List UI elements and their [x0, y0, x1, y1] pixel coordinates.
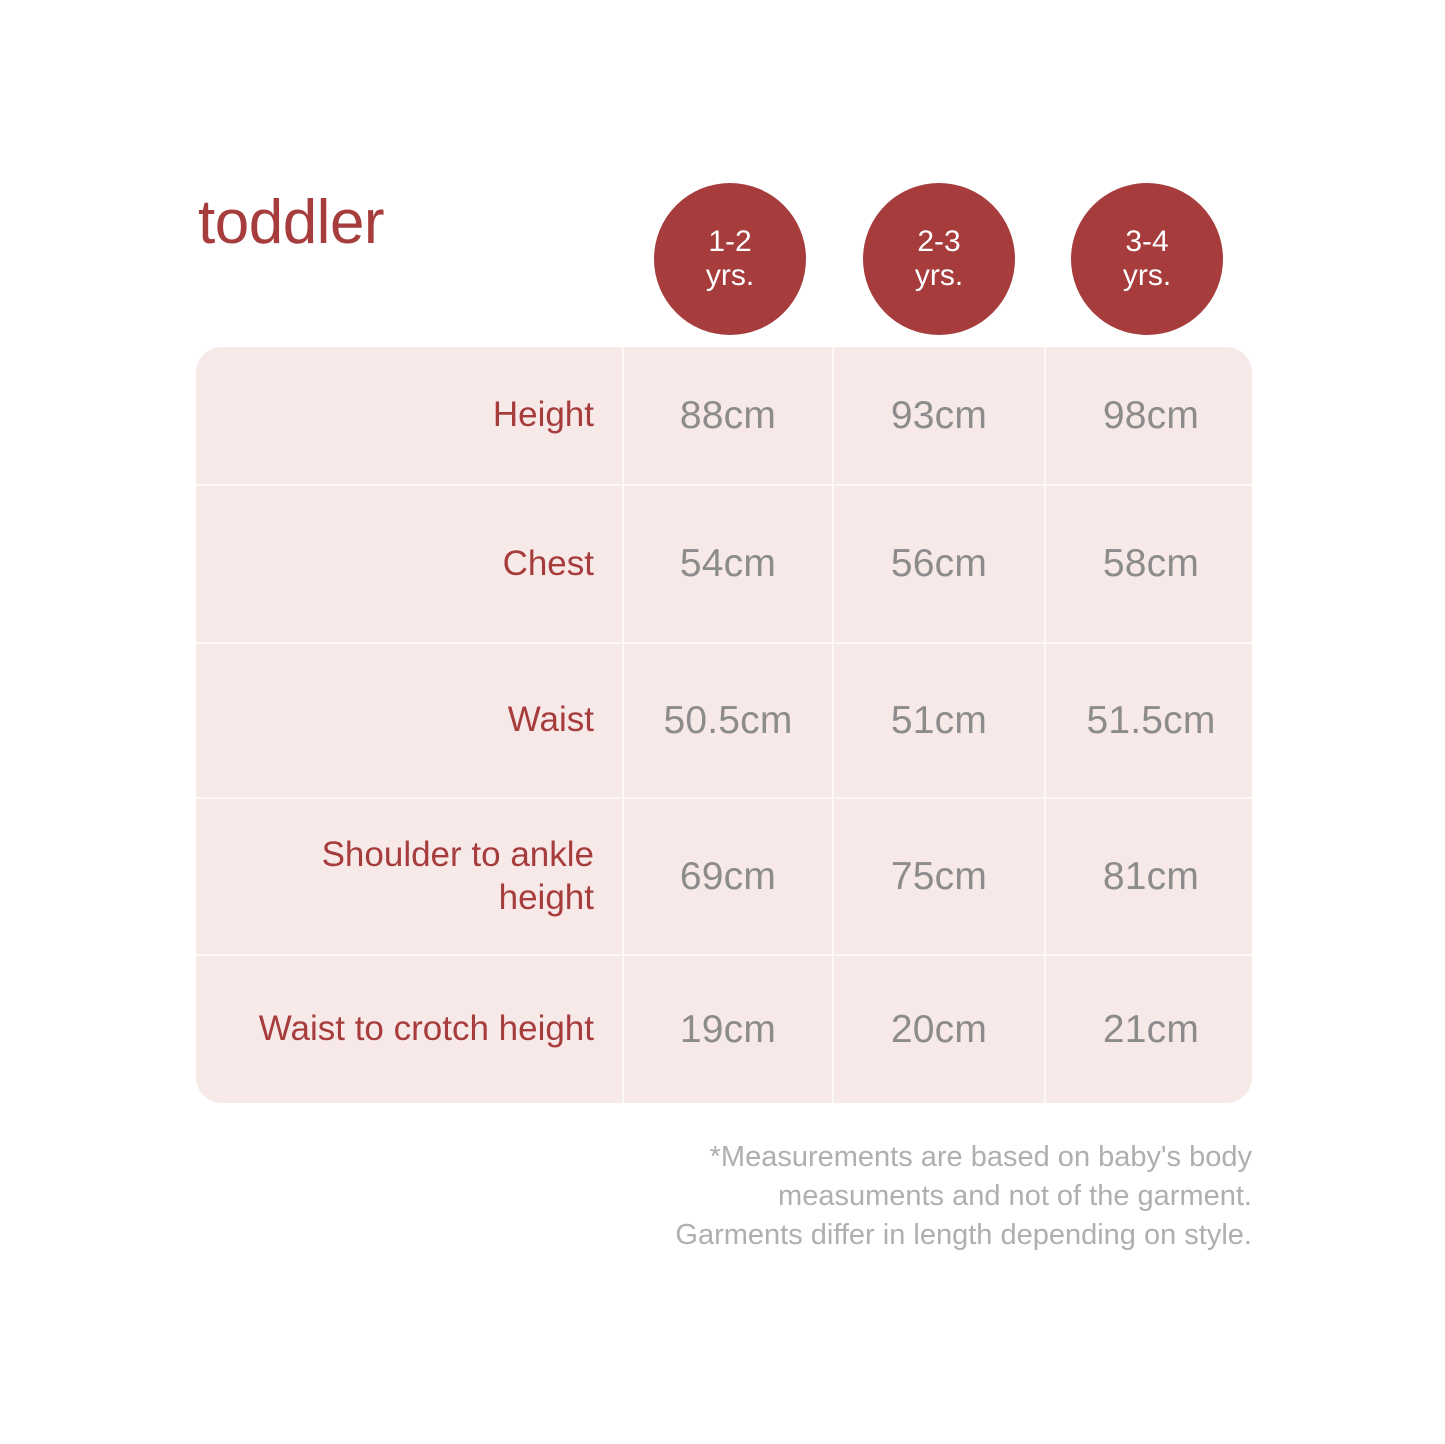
page-title: toddler	[198, 192, 384, 254]
cell-chest-2-3: 56cm	[832, 486, 1044, 642]
table-row: Height 88cm 93cm 98cm	[196, 347, 1252, 484]
cell-height-3-4: 98cm	[1044, 347, 1252, 484]
size-badge-unit: yrs.	[706, 259, 754, 293]
cell-shoulder-to-ankle-2-3: 75cm	[832, 799, 1044, 954]
table-row: Waist to crotch height 19cm 20cm 21cm	[196, 954, 1252, 1103]
row-label-chest: Chest	[196, 486, 622, 642]
measurements-footnote: *Measurements are based on baby's body m…	[552, 1138, 1252, 1255]
cell-waist-2-3: 51cm	[832, 644, 1044, 797]
cell-waist-to-crotch-1-2: 19cm	[622, 956, 832, 1103]
cell-waist-to-crotch-2-3: 20cm	[832, 956, 1044, 1103]
size-badge-range: 1-2	[708, 225, 751, 259]
footnote-line: Garments differ in length depending on s…	[552, 1216, 1252, 1255]
size-badge-unit: yrs.	[915, 259, 963, 293]
cell-shoulder-to-ankle-1-2: 69cm	[622, 799, 832, 954]
size-badge-range: 2-3	[917, 225, 960, 259]
cell-shoulder-to-ankle-3-4: 81cm	[1044, 799, 1252, 954]
size-badge-range: 3-4	[1125, 225, 1168, 259]
cell-height-2-3: 93cm	[832, 347, 1044, 484]
size-badge-3-4-yrs: 3-4 yrs.	[1071, 183, 1223, 335]
cell-height-1-2: 88cm	[622, 347, 832, 484]
table-row: Shoulder to ankle height 69cm 75cm 81cm	[196, 797, 1252, 954]
chart-header: toddler 1-2 yrs. 2-3 yrs. 3-4 yrs.	[196, 178, 1252, 338]
size-badge-2-3-yrs: 2-3 yrs.	[863, 183, 1015, 335]
row-label-shoulder-to-ankle-height: Shoulder to ankle height	[196, 799, 622, 954]
cell-waist-1-2: 50.5cm	[622, 644, 832, 797]
cell-chest-1-2: 54cm	[622, 486, 832, 642]
footnote-line: *Measurements are based on baby's body	[552, 1138, 1252, 1177]
measurements-table: Height 88cm 93cm 98cm Chest 54cm 56cm 58…	[196, 347, 1252, 1103]
row-label-waist: Waist	[196, 644, 622, 797]
footnote-line: measuments and not of the garment.	[552, 1177, 1252, 1216]
size-badge-1-2-yrs: 1-2 yrs.	[654, 183, 806, 335]
size-chart-page: toddler 1-2 yrs. 2-3 yrs. 3-4 yrs. Heigh…	[0, 0, 1445, 1444]
cell-chest-3-4: 58cm	[1044, 486, 1252, 642]
cell-waist-to-crotch-3-4: 21cm	[1044, 956, 1252, 1103]
row-label-waist-to-crotch-height: Waist to crotch height	[196, 956, 622, 1103]
size-badge-unit: yrs.	[1123, 259, 1171, 293]
table-row: Chest 54cm 56cm 58cm	[196, 484, 1252, 642]
cell-waist-3-4: 51.5cm	[1044, 644, 1252, 797]
row-label-height: Height	[196, 347, 622, 484]
table-row: Waist 50.5cm 51cm 51.5cm	[196, 642, 1252, 797]
